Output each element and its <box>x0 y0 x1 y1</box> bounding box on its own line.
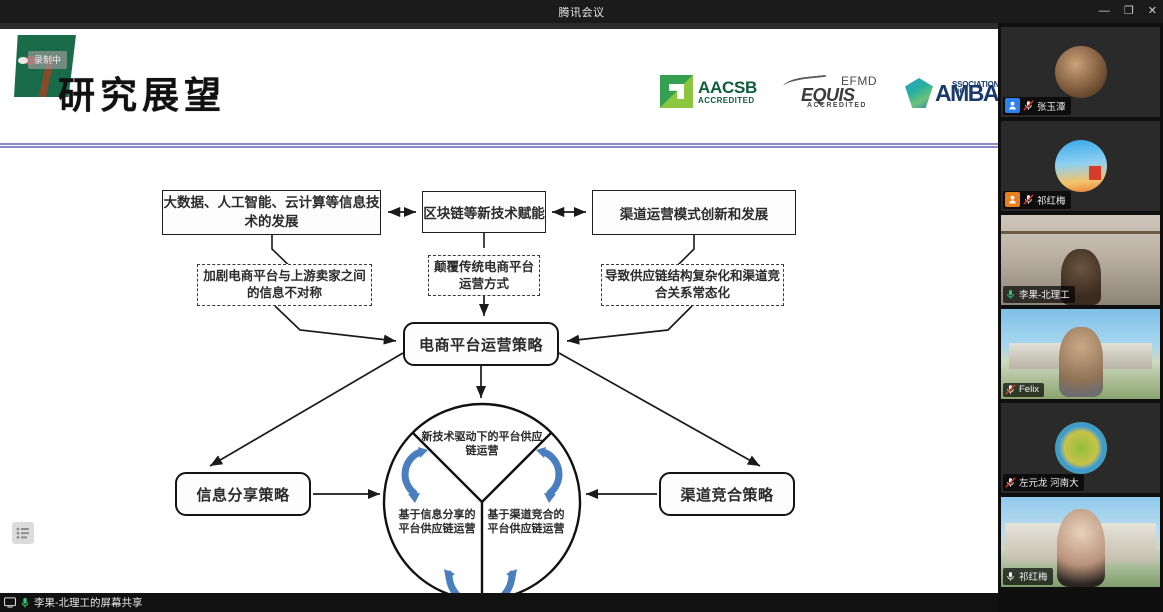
aacsb-mark-icon <box>660 75 693 108</box>
share-screen-icon <box>4 597 16 608</box>
aacsb-name: AACSB <box>698 79 757 96</box>
participant-name: Felix <box>1019 384 1039 395</box>
participant-tile[interactable]: 张玉潭 <box>1001 27 1160 117</box>
diagram-node-disrupt-traditional-operation[interactable]: 颠覆传统电商平台运营方式 <box>428 255 540 296</box>
minimize-icon[interactable]: — <box>1099 6 1110 17</box>
participant-tile[interactable]: 左元龙 河南大 <box>1001 403 1160 493</box>
participant-name-chip: 祁红梅 <box>1003 191 1071 209</box>
research-outlook-diagram: 大数据、人工智能、云计算等信息技术的发展 区块链等新技术赋能 渠道运营模式创新和… <box>0 148 998 593</box>
participant-name-chip: 左元龙 河南大 <box>1003 474 1084 491</box>
diagram-node-tech-development[interactable]: 大数据、人工智能、云计算等信息技术的发展 <box>162 190 381 235</box>
person-icon <box>1008 195 1017 204</box>
mic-muted-icon <box>1005 477 1016 488</box>
list-icon <box>16 527 30 539</box>
recording-badge: 录制中 <box>28 51 67 69</box>
diagram-node-channel-innovation[interactable]: 渠道运营模式创新和发展 <box>592 190 796 235</box>
participant-tile[interactable]: 祁红梅 <box>1001 497 1160 587</box>
slide-title: 研究展望 <box>58 65 226 119</box>
amba-logo: AMBA SSOCIATION OF <box>905 78 998 108</box>
equis-sub: ACCREDITED <box>807 102 867 109</box>
mic-active-icon <box>1005 289 1016 300</box>
participant-name: 张玉潭 <box>1037 99 1066 113</box>
mic-muted-icon <box>1023 100 1034 111</box>
amba-sub: SSOCIATION <box>952 81 998 89</box>
participant-tile[interactable]: Felix <box>1001 309 1160 399</box>
diagram-node-channel-coopetition-strategy[interactable]: 渠道竞合策略 <box>659 472 795 516</box>
window-controls: — ❐ ✕ <box>1099 0 1157 23</box>
avatar <box>1055 46 1107 98</box>
diagram-node-platform-operation-strategy[interactable]: 电商平台运营策略 <box>403 322 559 366</box>
equis-logo: EFMD EQUIS ACCREDITED <box>783 74 879 108</box>
sector-label-channel-coopetition: 基于渠道竞合的平台供应链运营 <box>486 508 566 537</box>
window-titlebar: 腾讯会议 — ❐ ✕ <box>0 0 1163 23</box>
participant-name-chip: Felix <box>1003 383 1044 397</box>
participant-badge-icon <box>1005 98 1020 113</box>
slide-header: 录制中 研究展望 AACSB ACCREDITED EFMD EQUIS <box>0 29 998 113</box>
amba-gem-icon <box>905 78 933 108</box>
avatar <box>1055 422 1107 474</box>
participant-name-chip: 李果-北理工 <box>1003 286 1075 303</box>
screen-share-label: 李果-北理工的屏幕共享 <box>34 595 143 610</box>
presentation-slide: 录制中 研究展望 AACSB ACCREDITED EFMD EQUIS <box>0 29 998 593</box>
aacsb-sub: ACCREDITED <box>698 97 757 105</box>
window-title: 腾讯会议 <box>559 4 605 20</box>
participant-name-chip: 祁红梅 <box>1003 568 1053 585</box>
diagram-node-information-asymmetry[interactable]: 加剧电商平台与上游卖家之间的信息不对称 <box>197 264 372 306</box>
shared-screen-stage[interactable]: 录制中 研究展望 AACSB ACCREDITED EFMD EQUIS <box>0 23 998 593</box>
amba-of: OF <box>955 89 963 95</box>
participant-name: 左元龙 河南大 <box>1019 475 1079 489</box>
diagram-node-blockchain-enablement[interactable]: 区块链等新技术赋能 <box>422 191 546 233</box>
supply-chain-circle: 新技术驱动下的平台供应链运营 基于信息分享的平台供应链运营 基于渠道竞合的平台供… <box>384 404 580 593</box>
participant-name-chip: 张玉潭 <box>1003 97 1071 115</box>
tencent-meeting-window: 腾讯会议 — ❐ ✕ 录制中 研究展望 AACSB ACCREDITED <box>0 0 1163 612</box>
participant-tile[interactable]: 祁红梅 <box>1001 121 1160 211</box>
person-icon <box>1008 101 1017 110</box>
diagram-node-supplychain-complexity[interactable]: 导致供应链结构复杂化和渠道竞合关系常态化 <box>601 264 784 306</box>
participant-name: 祁红梅 <box>1037 193 1066 207</box>
participant-badge-icon <box>1005 192 1020 207</box>
participant-name: 李果-北理工 <box>1019 287 1070 301</box>
aacsb-logo: AACSB ACCREDITED <box>660 75 757 108</box>
close-icon[interactable]: ✕ <box>1148 6 1157 17</box>
mic-active-icon <box>1005 571 1016 582</box>
sector-label-information-sharing: 基于信息分享的平台供应链运营 <box>398 508 476 537</box>
avatar <box>1055 140 1107 192</box>
annotation-list-button[interactable] <box>12 522 34 544</box>
participant-rail[interactable]: 张玉潭 祁红梅 <box>998 23 1163 612</box>
accreditation-logos: AACSB ACCREDITED EFMD EQUIS ACCREDITED <box>660 74 998 108</box>
sector-label-new-technology: 新技术驱动下的平台供应链运营 <box>420 430 544 459</box>
participant-tile[interactable]: 李果-北理工 <box>1001 215 1160 305</box>
mic-muted-icon <box>1023 194 1034 205</box>
mic-muted-icon <box>1005 384 1016 395</box>
screen-share-statusbar: 李果-北理工的屏幕共享 <box>0 593 998 612</box>
maximize-icon[interactable]: ❐ <box>1124 6 1134 17</box>
participant-name: 祁红梅 <box>1019 569 1048 583</box>
mic-active-icon <box>20 597 30 609</box>
diagram-node-information-sharing-strategy[interactable]: 信息分享策略 <box>175 472 311 516</box>
